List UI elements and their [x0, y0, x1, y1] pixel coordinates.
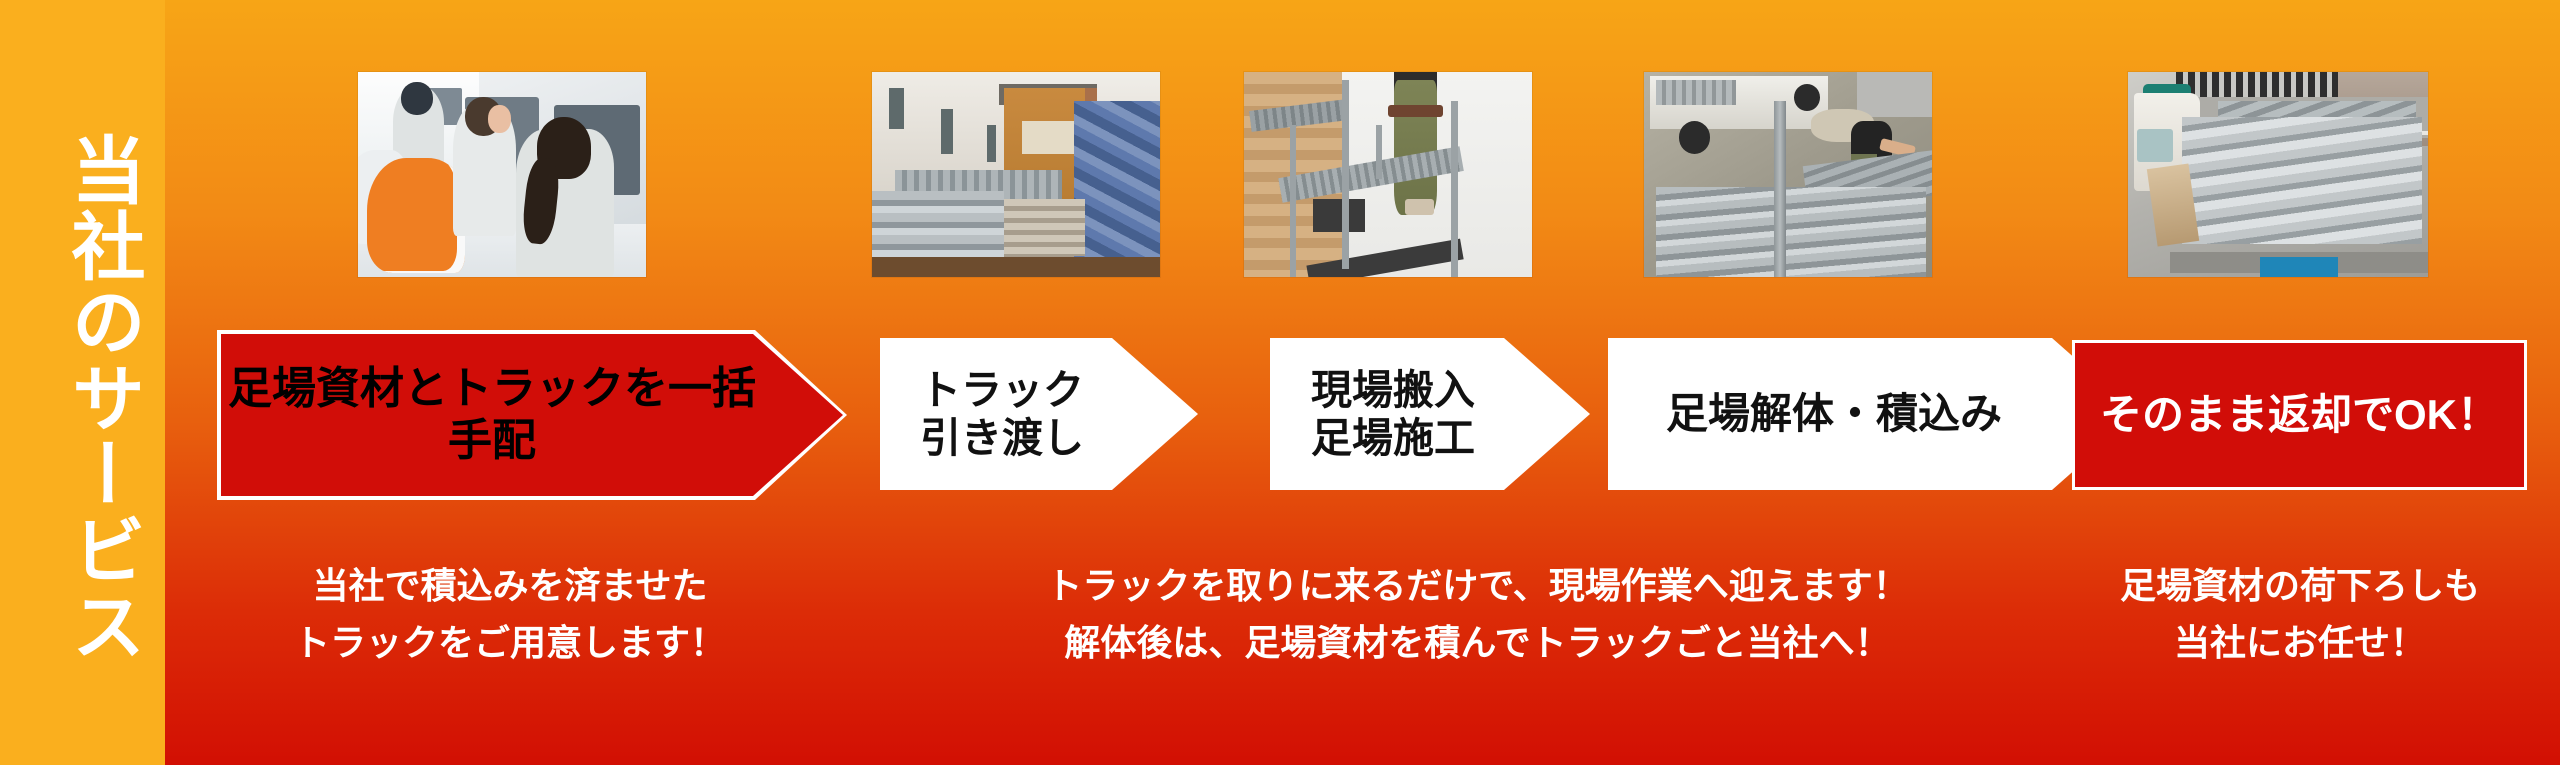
photo-scaffolding-materials-yard [872, 72, 1160, 277]
caption-center: トラックを取りに来るだけで、現場作業へ迎えます！ 解体後は、足場資材を積んでトラ… [880, 558, 2075, 672]
step-4-arrow[interactable]: 足場解体・積込み [1608, 338, 2138, 490]
photo-worker-on-scaffold [1244, 72, 1532, 277]
step-1-arrow[interactable]: 足場資材とトラックを一括手配 [217, 330, 847, 500]
step-4-label: 足場解体・積込み [1608, 389, 2138, 439]
photo-loaded-truck-on-street [2128, 72, 2428, 277]
step-1-label: 足場資材とトラックを一括手配 [217, 363, 847, 467]
step-3-label: 現場搬入 足場施工 [1270, 366, 1590, 463]
step-2-label: トラック 引き渡し [880, 366, 1198, 463]
step-5-label: そのまま返却でOK！ [2075, 390, 2524, 440]
caption-right: 足場資材の荷下ろしも 当社にお任せ！ [2060, 558, 2540, 672]
service-flow-banner: 当社のサービス [0, 0, 2560, 765]
page-title: 当社のサービス [26, 118, 142, 678]
caption-left: 当社で積込みを済ませた トラックをご用意します！ [190, 558, 830, 672]
photo-office-staff-at-computers [358, 72, 646, 277]
step-5-box[interactable]: そのまま返却でOK！ [2072, 340, 2527, 490]
photo-loading-materials-onto-truck [1644, 72, 1932, 277]
